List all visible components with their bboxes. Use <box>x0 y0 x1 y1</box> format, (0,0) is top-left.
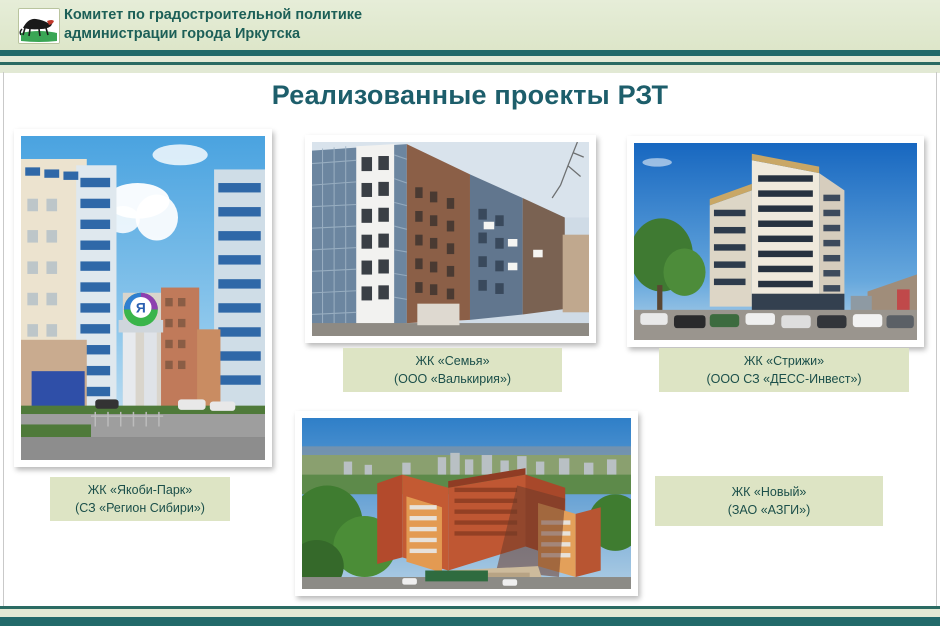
slide: Комитет по градостроительной политике ад… <box>0 0 940 626</box>
irkutsk-coat-of-arms-icon <box>18 8 60 44</box>
page-title: Реализованные проекты РЗТ <box>0 80 940 111</box>
photo-yakobi-park-image: Я <box>21 136 265 460</box>
photo-strizhi-image <box>634 143 917 340</box>
header-divider-pale-2 <box>0 65 940 73</box>
photo-semya <box>305 135 596 343</box>
photo-yakobi-park: Я <box>14 129 272 467</box>
caption-semya: ЖК «Семья» (ООО «Валькирия») <box>343 348 562 392</box>
photo-novyi <box>295 411 638 596</box>
caption-yakobi-park-developer: (СЗ «Регион Сибири») <box>75 499 205 517</box>
photo-strizhi <box>627 136 924 347</box>
header-title: Комитет по градостроительной политике ад… <box>64 6 764 44</box>
page-border-right <box>936 72 937 606</box>
header-title-line1: Комитет по градостроительной политике <box>64 6 764 25</box>
photo-novyi-image <box>302 418 631 589</box>
header-bar: Комитет по градостроительной политике ад… <box>0 0 940 50</box>
header-title-line2: администрации города Иркутска <box>64 25 764 44</box>
caption-semya-developer: (ООО «Валькирия») <box>394 370 511 388</box>
caption-strizhi: ЖК «Стрижи» (ООО СЗ «ДЕСС-Инвест») <box>659 348 909 392</box>
footer-bar <box>0 617 940 626</box>
caption-novyi-name: ЖК «Новый» <box>732 483 807 501</box>
caption-strizhi-name: ЖК «Стрижи» <box>744 352 824 370</box>
footer-divider-pale <box>0 609 940 617</box>
caption-semya-name: ЖК «Семья» <box>415 352 489 370</box>
page-border-left <box>3 72 4 606</box>
caption-yakobi-park-name: ЖК «Якоби-Парк» <box>88 481 192 499</box>
svg-text:Я: Я <box>136 301 146 316</box>
photo-semya-image <box>312 142 589 336</box>
caption-novyi-developer: (ЗАО «АЗГИ») <box>728 501 811 519</box>
caption-novyi: ЖК «Новый» (ЗАО «АЗГИ») <box>655 476 883 526</box>
caption-yakobi-park: ЖК «Якоби-Парк» (СЗ «Регион Сибири») <box>50 477 230 521</box>
caption-strizhi-developer: (ООО СЗ «ДЕСС-Инвест») <box>706 370 861 388</box>
